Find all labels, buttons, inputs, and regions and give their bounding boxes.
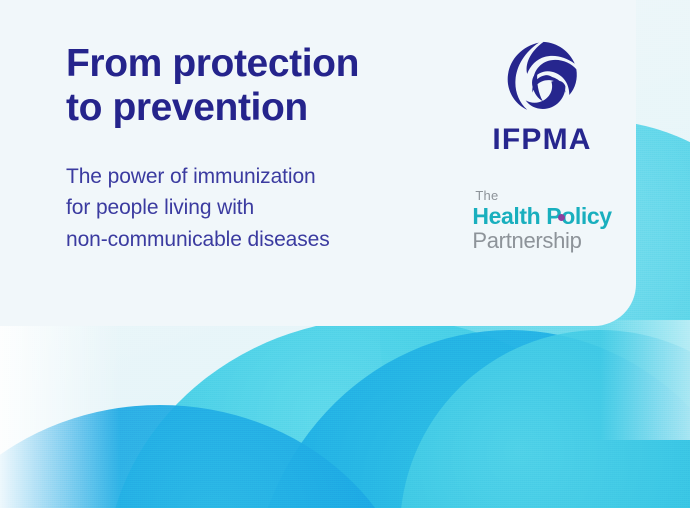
- page-subtitle: The power of immunizationfor people livi…: [66, 129, 436, 254]
- page-title: From protectionto prevention: [66, 42, 436, 129]
- page-subtitle-line-1: The power of immunization: [66, 165, 316, 188]
- hpp-line-health-policy: Health Policy: [472, 205, 611, 228]
- page-subtitle-line-3: non-communicable diseases: [66, 228, 330, 251]
- cover-page: From protectionto prevention The power o…: [0, 0, 690, 508]
- background-fade-left: [0, 320, 120, 508]
- hpp-health-policy-text: Health Policy: [472, 203, 611, 229]
- hpp-line-the: The: [472, 189, 611, 202]
- hpp-line-partnership: Partnership: [472, 230, 611, 252]
- health-policy-partnership-logo: The Health Policy Partnership: [472, 189, 611, 252]
- page-subtitle-line-2: for people living with: [66, 196, 254, 219]
- background-fade-right: [600, 320, 690, 440]
- page-title-line-1: From protection: [66, 42, 359, 85]
- ifpma-logo: IFPMA: [492, 38, 591, 155]
- hero-card: From protectionto prevention The power o…: [0, 0, 636, 326]
- logo-stack: IFPMA The Health Policy Partnership: [462, 38, 622, 252]
- ifpma-wordmark: IFPMA: [492, 125, 591, 155]
- ifpma-swirl-icon: [503, 38, 581, 121]
- page-title-line-2: to prevention: [66, 86, 308, 129]
- title-block: From protectionto prevention The power o…: [66, 42, 436, 255]
